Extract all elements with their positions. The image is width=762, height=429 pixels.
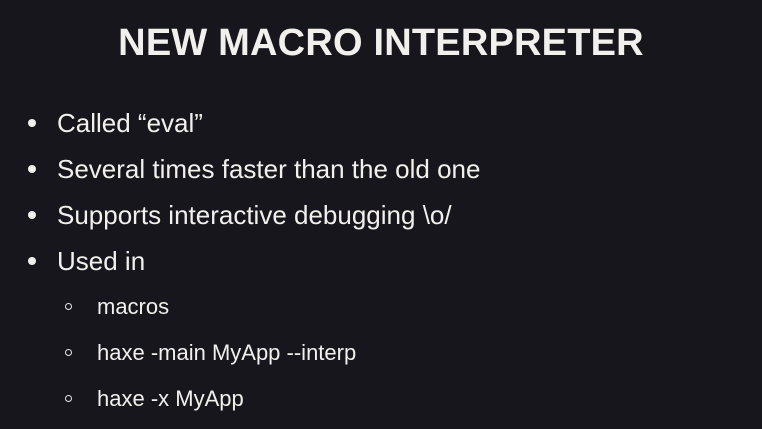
bullet-item: Used in [0, 238, 762, 284]
hollow-circle-bullet-icon [65, 395, 72, 402]
bullet-item: Supports interactive debugging \o/ [0, 192, 762, 238]
filled-disc-bullet-icon [28, 119, 36, 127]
sub-bullet-item: haxe -main MyApp --interp [0, 330, 762, 376]
bullet-list: Called “eval” Several times faster than … [0, 100, 762, 422]
bullet-text: Supports interactive debugging \o/ [57, 200, 452, 230]
sub-bullet-item: haxe -x MyApp [0, 376, 762, 422]
sub-bullet-text: haxe -main MyApp --interp [97, 340, 356, 366]
bullet-text: Several times faster than the old one [57, 154, 480, 184]
presentation-slide: NEW MACRO INTERPRETER Called “eval” Seve… [0, 0, 762, 429]
sub-bullet-text: haxe -x MyApp [97, 386, 244, 412]
bullet-item: Called “eval” [0, 100, 762, 146]
bullet-text: Called “eval” [57, 108, 203, 138]
bullet-item: Several times faster than the old one [0, 146, 762, 192]
sub-bullet-text: macros [97, 294, 169, 320]
slide-title: NEW MACRO INTERPRETER [0, 20, 762, 66]
filled-disc-bullet-icon [28, 165, 36, 173]
hollow-circle-bullet-icon [65, 349, 72, 356]
bullet-text: Used in [57, 246, 145, 276]
filled-disc-bullet-icon [28, 257, 36, 265]
filled-disc-bullet-icon [28, 211, 36, 219]
sub-bullet-item: macros [0, 284, 762, 330]
hollow-circle-bullet-icon [65, 303, 72, 310]
